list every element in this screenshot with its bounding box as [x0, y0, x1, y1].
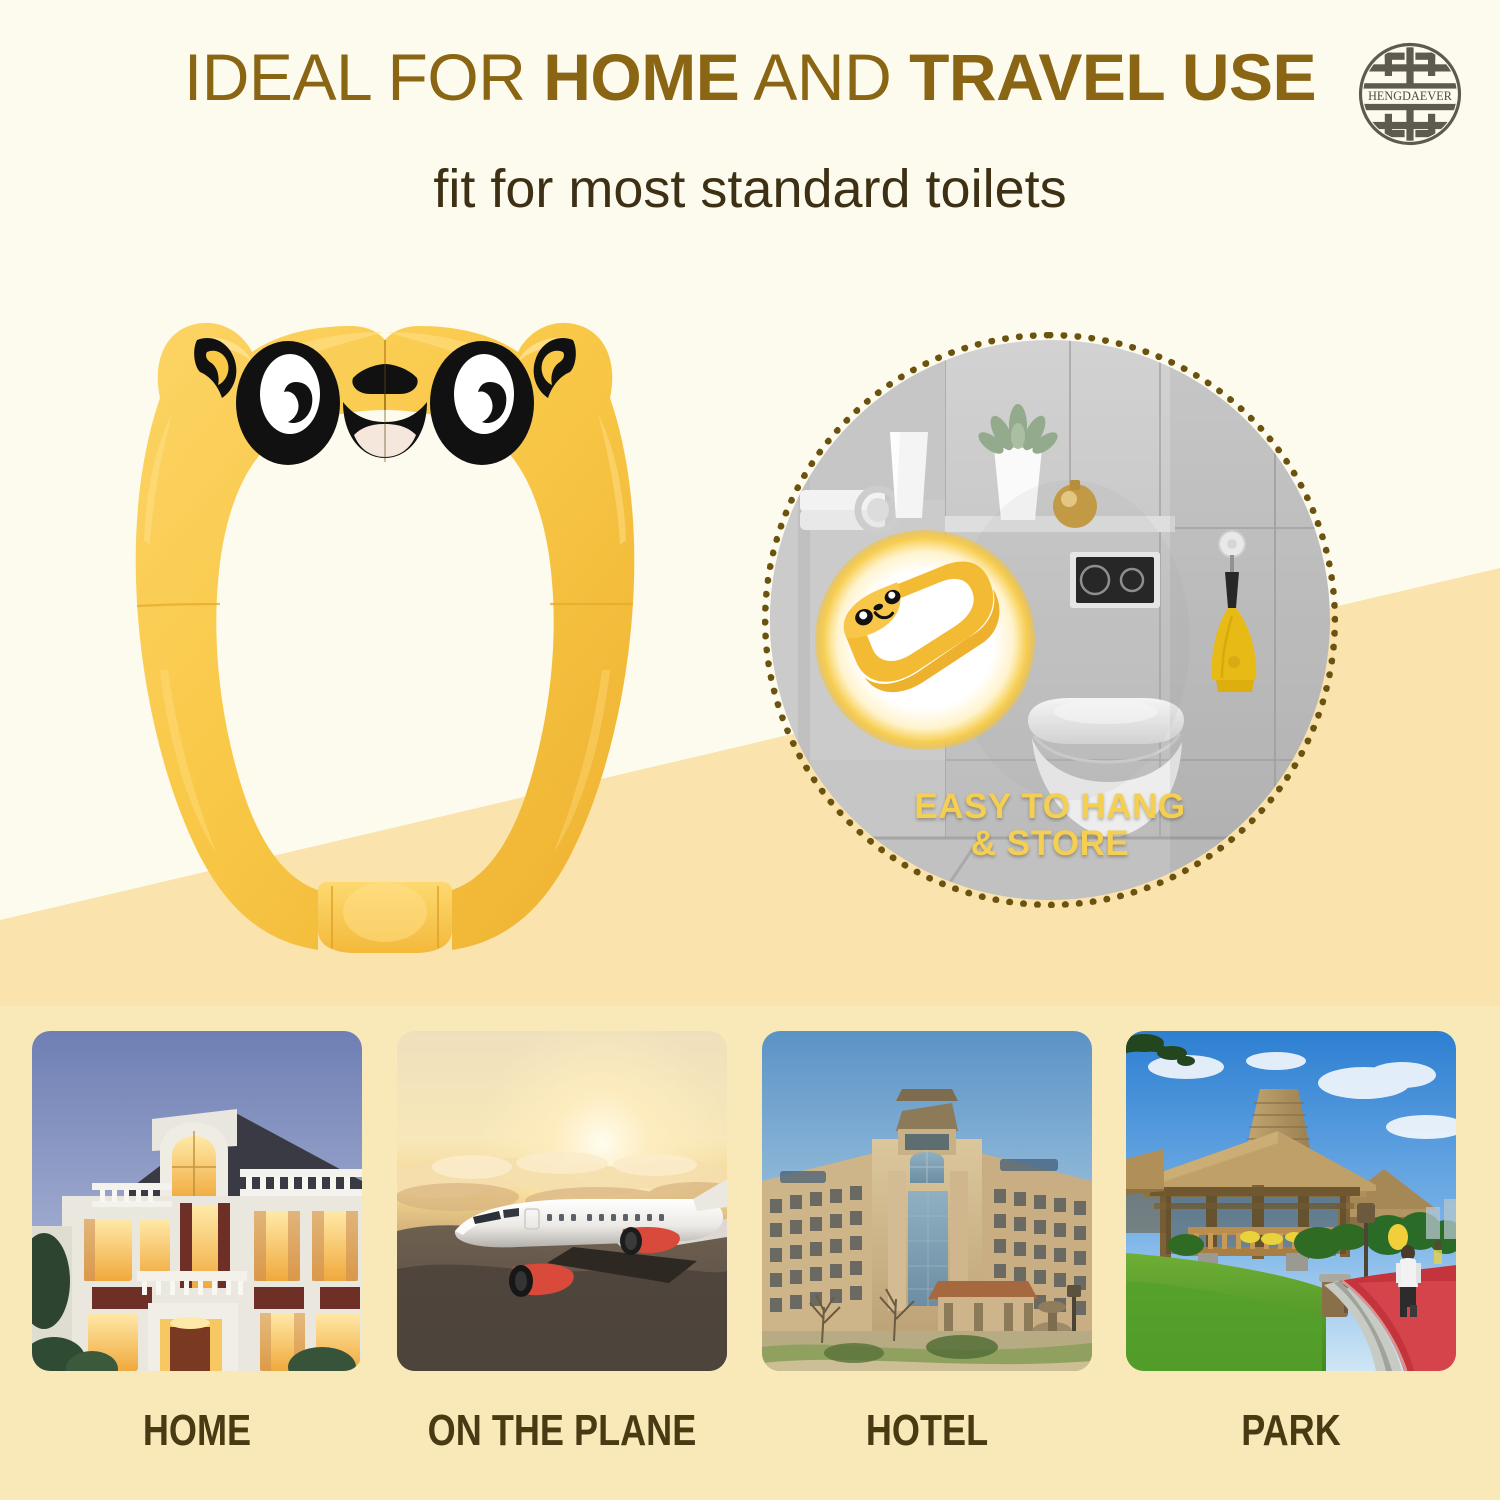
scene-label-plane: ON THE PLANE: [427, 1406, 698, 1456]
use-case-strip: HOME ON THE PLANE HOTEL PARK: [0, 1006, 1500, 1500]
brand-logo-text: HENGDAEVER: [1368, 89, 1453, 103]
page-title: IDEAL FOR HOME AND TRAVEL USE: [0, 44, 1500, 110]
scene-label-park: PARK: [1156, 1406, 1427, 1456]
seat-bottom-connector: [318, 882, 452, 953]
infographic-canvas: IDEAL FOR HOME AND TRAVEL USE fit for mo…: [0, 0, 1500, 1500]
feature-photo-bathroom: [770, 340, 1330, 900]
bear-eye-left: [236, 341, 340, 465]
product-inset-spotlight: [815, 530, 1035, 750]
page-title-segment-0: IDEAL FOR: [184, 40, 543, 114]
bear-eye-right: [430, 341, 534, 465]
scene-photo-home: [32, 1031, 362, 1371]
scene-photo-plane: [397, 1031, 727, 1371]
scene-label-home: HOME: [62, 1406, 333, 1456]
page-title-segment-3: TRAVEL USE: [909, 40, 1316, 114]
towels: [800, 489, 898, 531]
scene-photo-park: [1126, 1031, 1456, 1371]
page-title-segment-1: HOME: [543, 40, 739, 114]
scene-label-hotel: HOTEL: [792, 1406, 1063, 1456]
white-vase: [890, 432, 928, 518]
page-subtitle: fit for most standard toilets: [0, 162, 1500, 216]
page-title-segment-2: AND: [739, 40, 909, 114]
scene-photo-hotel: [762, 1031, 1092, 1371]
product-image-folding-seat: [100, 290, 670, 960]
brand-logo: HENGDAEVER: [1356, 40, 1464, 148]
